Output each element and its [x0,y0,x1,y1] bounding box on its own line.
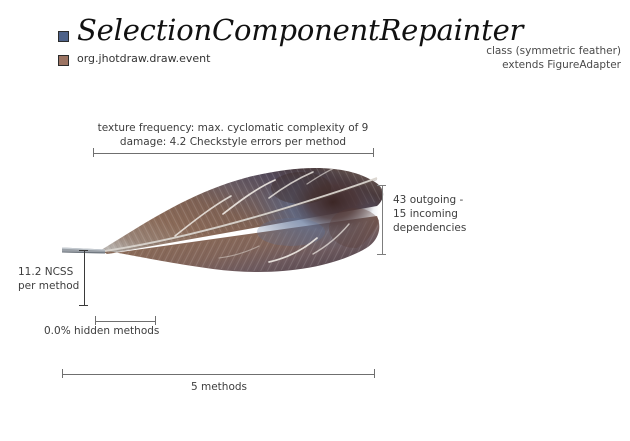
page-title: SelectionComponentRepainter [77,13,523,47]
outgoing-dependencies-label: 43 outgoing - [393,193,466,207]
entity-kind-line2: extends FigureAdapter [486,58,621,72]
incoming-dependencies-label: 15 incoming [393,207,466,221]
dependencies-annotation: 43 outgoing - 15 incoming dependencies [393,193,466,235]
dependencies-word-label: dependencies [393,221,466,235]
hidden-methods-label: 0.0% hidden methods [44,324,159,338]
package-color-swatch [58,55,69,66]
class-color-swatch [58,31,69,42]
methods-caliper [62,369,375,378]
texture-frequency-label: texture frequency: max. cyclomatic compl… [98,121,369,135]
dependencies-caliper [377,185,386,255]
entity-kind-line1: class (symmetric feather) [486,44,621,58]
entity-kind-note: class (symmetric feather) extends Figure… [486,44,621,72]
methods-label: 5 methods [191,380,247,394]
feather-glyph [55,158,390,283]
texture-damage-annotation: texture frequency: max. cyclomatic compl… [98,121,369,149]
package-label: org.jhotdraw.draw.event [77,52,210,65]
texture-span-caliper [93,148,374,157]
damage-label: damage: 4.2 Checkstyle errors per method [98,135,369,149]
ncss-unit-label: per method [18,279,79,293]
diagram-canvas: SelectionComponentRepainter org.jhotdraw… [0,0,630,441]
ncss-value-label: 11.2 NCSS [18,265,79,279]
ncss-annotation: 11.2 NCSS per method [18,265,79,293]
ncss-caliper [79,250,88,306]
